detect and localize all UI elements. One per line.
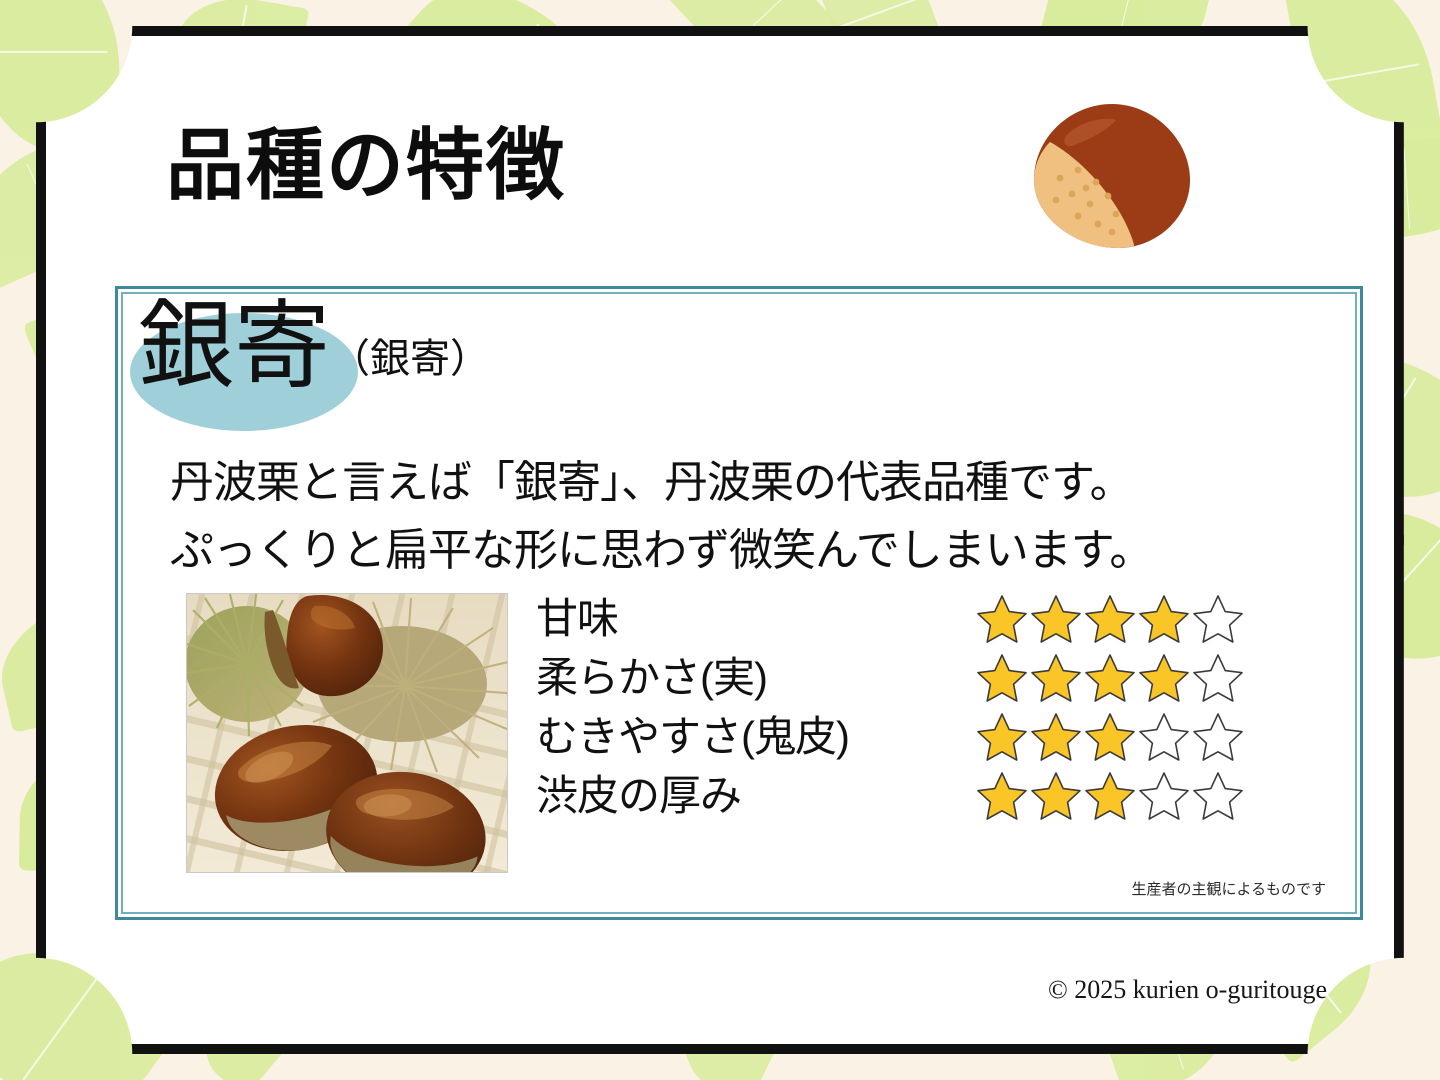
rating-row: むきやすさ(鬼皮) (536, 707, 1326, 766)
star-empty-icon (1192, 593, 1244, 645)
star-empty-icon (1138, 711, 1190, 763)
rating-row: 渋皮の厚み (536, 766, 1326, 825)
rating-disclaimer: 生産者の主観によるものです (1131, 878, 1326, 899)
star-filled-icon (1030, 711, 1082, 763)
copyright-notice: © 2025 kurien o-guritouge (1048, 975, 1327, 1005)
star-filled-icon (1084, 770, 1136, 822)
variety-reading: （銀寄） (330, 326, 490, 398)
page-title: 品種の特徴 (166, 126, 566, 204)
rating-label: 柔らかさ(実) (536, 657, 976, 699)
variety-detail-box: 銀寄 （銀寄） 丹波栗と言えば「銀寄」、丹波栗の代表品種です。 ぷっくりと扁平な… (115, 286, 1363, 920)
rating-row: 甘味 (536, 589, 1326, 648)
ratings-list: 甘味 柔らかさ(実) むきやすさ(鬼皮) 渋皮の厚み (536, 589, 1326, 825)
star-filled-icon (976, 593, 1028, 645)
star-filled-icon (1084, 711, 1136, 763)
rating-stars (976, 593, 1244, 645)
variety-name-row: 銀寄 （銀寄） (138, 297, 490, 398)
rating-label: むきやすさ(鬼皮) (536, 716, 976, 758)
rating-stars (976, 770, 1244, 822)
rating-label: 渋皮の厚み (536, 775, 976, 817)
star-empty-icon (1138, 770, 1190, 822)
star-filled-icon (1084, 652, 1136, 704)
star-filled-icon (1138, 652, 1190, 704)
star-filled-icon (1030, 652, 1082, 704)
chestnut-icon (1020, 96, 1200, 256)
star-filled-icon (976, 711, 1028, 763)
star-empty-icon (1192, 711, 1244, 763)
star-filled-icon (1138, 593, 1190, 645)
variety-name: 銀寄 (138, 297, 330, 398)
star-filled-icon (1084, 593, 1136, 645)
description-line: ぷっくりと扁平な形に思わず微笑んでしまいます。 (170, 517, 1330, 585)
rating-stars (976, 652, 1244, 704)
rating-label: 甘味 (536, 598, 976, 640)
star-filled-icon (976, 770, 1028, 822)
rating-stars (976, 711, 1244, 763)
description-line: 丹波栗と言えば「銀寄」、丹波栗の代表品種です。 (170, 449, 1330, 517)
star-filled-icon (1030, 770, 1082, 822)
star-empty-icon (1192, 652, 1244, 704)
star-filled-icon (1030, 593, 1082, 645)
rating-row: 柔らかさ(実) (536, 648, 1326, 707)
star-filled-icon (976, 652, 1028, 704)
star-empty-icon (1192, 770, 1244, 822)
variety-photo (186, 593, 508, 873)
variety-description: 丹波栗と言えば「銀寄」、丹波栗の代表品種です。 ぷっくりと扁平な形に思わず微笑ん… (170, 449, 1330, 585)
